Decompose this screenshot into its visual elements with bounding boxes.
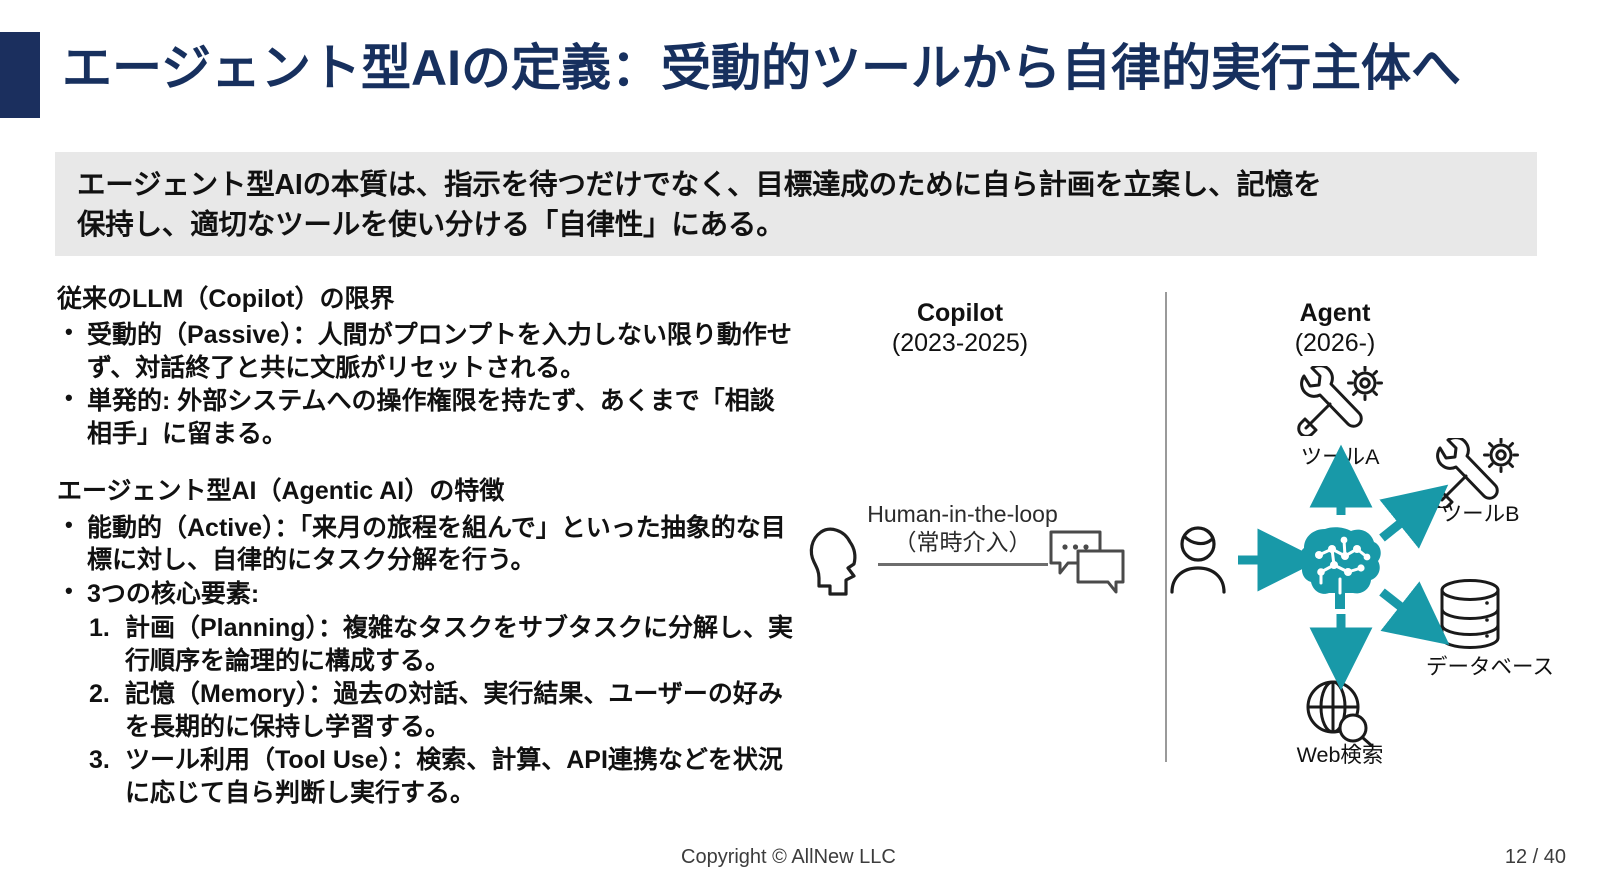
section2-heading: エージェント型AI（Agentic AI）の特徴: [57, 476, 797, 507]
human-in-the-loop-label: Human-in-the-loop （常時介入）: [845, 500, 1080, 556]
tool-a-wrench-gear-icon: [1296, 366, 1384, 441]
page-title: エージェント型AIの定義：受動的ツールから自律的実行主体へ: [62, 38, 1461, 98]
user-person-icon: [1168, 522, 1228, 599]
human-in-the-loop-label-ja: （常時介入）: [845, 528, 1080, 556]
left-content-column: 従来のLLM（Copilot）の限界 受動的（Passive）：人間がプロンプト…: [57, 284, 797, 810]
list-item: 単発的: 外部システムへの操作権限を持たず、あくまで「相談相手」に留まる。: [57, 385, 797, 450]
head-profile-icon: [806, 522, 868, 605]
agent-heading: Agent (2026-): [1205, 298, 1465, 358]
tool-a-label: ツールA: [1245, 440, 1435, 471]
agent-title: Agent: [1205, 298, 1465, 328]
footer-page-number: 12 / 40: [1505, 846, 1566, 869]
database-label: データベース: [1390, 650, 1590, 681]
section1-bullet-list: 受動的（Passive）：人間がプロンプトを入力しない限り動作せず、対話終了と共…: [57, 319, 797, 450]
list-item: 2.記憶（Memory）：過去の対話、実行結果、ユーザーの好みを長期的に保持し学…: [57, 678, 797, 743]
chat-bubbles-icon: [1048, 527, 1126, 600]
summary-banner-text: エージェント型AIの本質は、指示を待つだけでなく、目標達成のために自ら計画を立案…: [77, 166, 1527, 246]
list-item-number: 1.: [89, 612, 110, 645]
copilot-heading: Copilot (2023-2025): [830, 298, 1090, 358]
summary-line-2: 保持し、適切なツールを使い分ける「自律性」にある。: [77, 206, 1527, 246]
slide-root: エージェント型AIの定義：受動的ツールから自律的実行主体へ エージェント型AIの…: [0, 0, 1600, 893]
human-in-the-loop-connector: [878, 563, 1048, 566]
tool-b-label: ツールB: [1385, 497, 1575, 528]
list-item: 3つの核心要素:: [57, 578, 797, 611]
list-item-text: 記憶（Memory）：過去の対話、実行結果、ユーザーの好みを長期的に保持し学習す…: [125, 680, 783, 741]
web-search-label: Web検索: [1240, 738, 1440, 769]
list-item: 受動的（Passive）：人間がプロンプトを入力しない限り動作せず、対話終了と共…: [57, 319, 797, 384]
footer-copyright: Copyright © AllNew LLC: [681, 846, 896, 869]
list-item-text: ツール利用（Tool Use）：検索、計算、API連携などを状況に応じて自ら判断…: [125, 746, 783, 807]
list-item-number: 2.: [89, 678, 110, 711]
list-item: 3.ツール利用（Tool Use）：検索、計算、API連携などを状況に応じて自ら…: [57, 744, 797, 809]
database-cylinder-icon: [1437, 578, 1503, 655]
human-in-the-loop-label-en: Human-in-the-loop: [845, 500, 1080, 528]
list-item: 能動的（Active）：「来月の旅程を組んで」といった抽象的な目標に対し、自律的…: [57, 512, 797, 577]
list-item-text: 計画（Planning）：複雑なタスクをサブタスクに分解し、実行順序を論理的に構…: [125, 614, 793, 675]
copilot-title: Copilot: [830, 298, 1090, 328]
list-item-number: 3.: [89, 744, 110, 777]
agent-period: (2026-): [1205, 328, 1465, 358]
list-item: 1.計画（Planning）：複雑なタスクをサブタスクに分解し、実行順序を論理的…: [57, 612, 797, 677]
copilot-period: (2023-2025): [830, 328, 1090, 358]
diagram-divider: [1165, 292, 1167, 762]
core-elements-list: 1.計画（Planning）：複雑なタスクをサブタスクに分解し、実行順序を論理的…: [57, 612, 797, 809]
section1-heading: 従来のLLM（Copilot）の限界: [57, 284, 797, 315]
section2-bullet-list: 能動的（Active）：「来月の旅程を組んで」といった抽象的な目標に対し、自律的…: [57, 512, 797, 611]
summary-line-1: エージェント型AIの本質は、指示を待つだけでなく、目標達成のために自ら計画を立案…: [77, 166, 1527, 206]
title-accent-bar: [0, 32, 40, 118]
agent-brain-icon: [1295, 523, 1387, 616]
